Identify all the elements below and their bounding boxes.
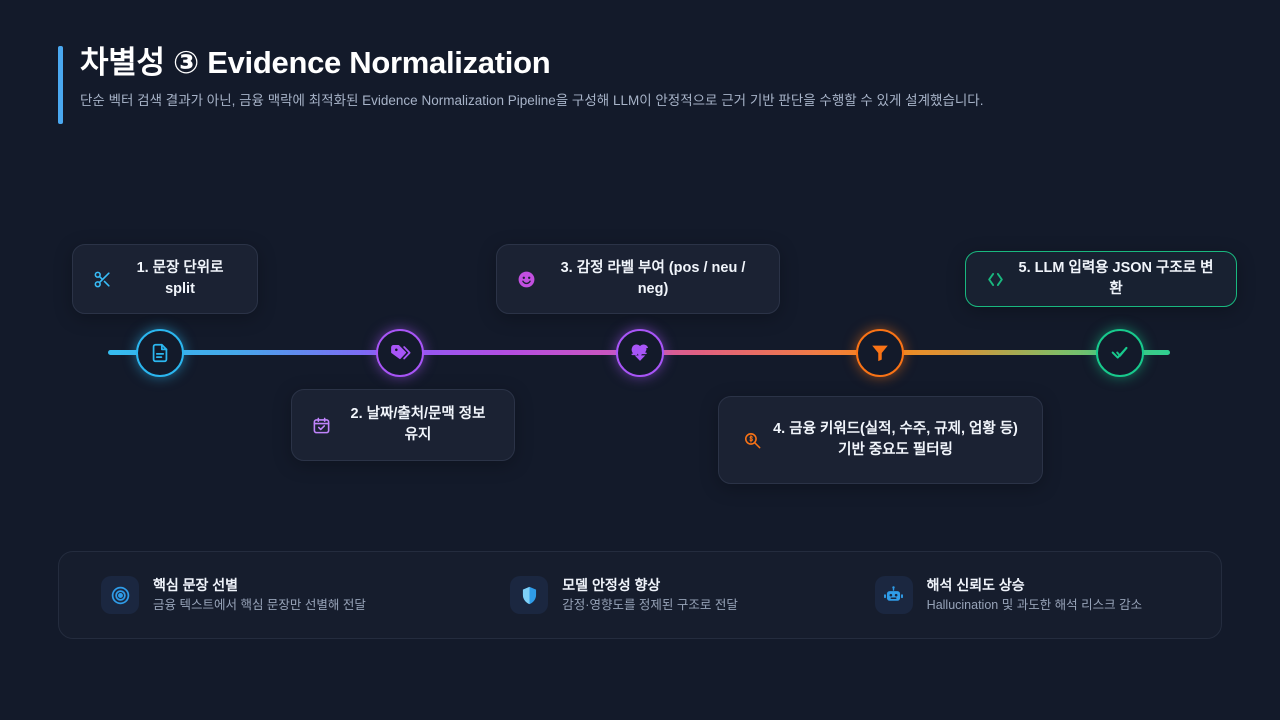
pipeline-step-card-5[interactable]: 5. LLM 입력용 JSON 구조로 변환 <box>965 251 1237 307</box>
money-search-icon <box>743 431 762 450</box>
pipeline-step-card-1[interactable]: 1. 문장 단위로 split <box>72 244 258 314</box>
summary-item-1[interactable]: 핵심 문장 선별 금융 텍스트에서 핵심 문장만 선별해 전달 <box>59 576 468 614</box>
header-text-group: 차별성 ③ Evidence Normalization 단순 벡터 검색 결과… <box>58 44 1218 111</box>
shield-icon <box>510 576 548 614</box>
page-title: 차별성 ③ Evidence Normalization <box>80 44 1218 83</box>
pipeline-step-label-3: 3. 감정 라벨 부여 (pos / neu / neg) <box>547 258 759 300</box>
target-icon <box>101 576 139 614</box>
pipeline-step-label-2: 2. 날짜/출처/문맥 정보 유지 <box>342 404 494 446</box>
summary-desc-1: 금융 텍스트에서 핵심 문장만 선별해 전달 <box>153 597 366 613</box>
summary-text-3: 해석 신뢰도 상승 Hallucination 및 과도한 해석 리스크 감소 <box>927 577 1142 614</box>
summary-item-2[interactable]: 모델 안정성 향상 감정·영향도를 정제된 구조로 전달 <box>468 576 832 614</box>
summary-desc-2: 감정·영향도를 정제된 구조로 전달 <box>562 597 738 613</box>
page-header: 차별성 ③ Evidence Normalization 단순 벡터 검색 결과… <box>58 44 1218 111</box>
summary-panel: 핵심 문장 선별 금융 텍스트에서 핵심 문장만 선별해 전달 모델 안정성 향… <box>58 551 1222 639</box>
summary-desc-3: Hallucination 및 과도한 해석 리스크 감소 <box>927 597 1142 613</box>
pipeline-step-label-1: 1. 문장 단위로 split <box>123 258 237 300</box>
code-icon <box>986 270 1005 289</box>
pipeline-step-label-5: 5. LLM 입력용 JSON 구조로 변환 <box>1016 258 1216 300</box>
summary-text-2: 모델 안정성 향상 감정·영향도를 정제된 구조로 전달 <box>562 577 738 614</box>
pipeline-step-card-4[interactable]: 4. 금융 키워드(실적, 수주, 규제, 업황 등) 기반 중요도 필터링 <box>718 396 1043 484</box>
page-subtitle: 단순 벡터 검색 결과가 아닌, 금융 맥락에 최적화된 Evidence No… <box>80 92 1218 111</box>
evidence-pipeline-timeline: 1. 문장 단위로 split 3. 감정 라벨 부여 (pos / neu /… <box>0 230 1280 500</box>
summary-text-1: 핵심 문장 선별 금융 텍스트에서 핵심 문장만 선별해 전달 <box>153 577 366 614</box>
timeline-node-2[interactable] <box>376 329 424 377</box>
calendar-icon <box>312 416 331 435</box>
scissors-icon <box>93 270 112 289</box>
smiley-icon <box>517 270 536 289</box>
robot-icon <box>875 576 913 614</box>
pipeline-step-card-2[interactable]: 2. 날짜/출처/문맥 정보 유지 <box>291 389 515 461</box>
timeline-node-4[interactable] <box>856 329 904 377</box>
summary-title-1: 핵심 문장 선별 <box>153 577 366 595</box>
timeline-node-1[interactable] <box>136 329 184 377</box>
summary-title-3: 해석 신뢰도 상승 <box>927 577 1142 595</box>
header-accent-bar <box>58 46 63 124</box>
timeline-node-5[interactable] <box>1096 329 1144 377</box>
pipeline-step-card-3[interactable]: 3. 감정 라벨 부여 (pos / neu / neg) <box>496 244 780 314</box>
pipeline-step-label-4: 4. 금융 키워드(실적, 수주, 규제, 업황 등) 기반 중요도 필터링 <box>773 419 1018 461</box>
timeline-node-3[interactable] <box>616 329 664 377</box>
summary-title-2: 모델 안정성 향상 <box>562 577 738 595</box>
summary-item-3[interactable]: 해석 신뢰도 상승 Hallucination 및 과도한 해석 리스크 감소 <box>833 576 1221 614</box>
